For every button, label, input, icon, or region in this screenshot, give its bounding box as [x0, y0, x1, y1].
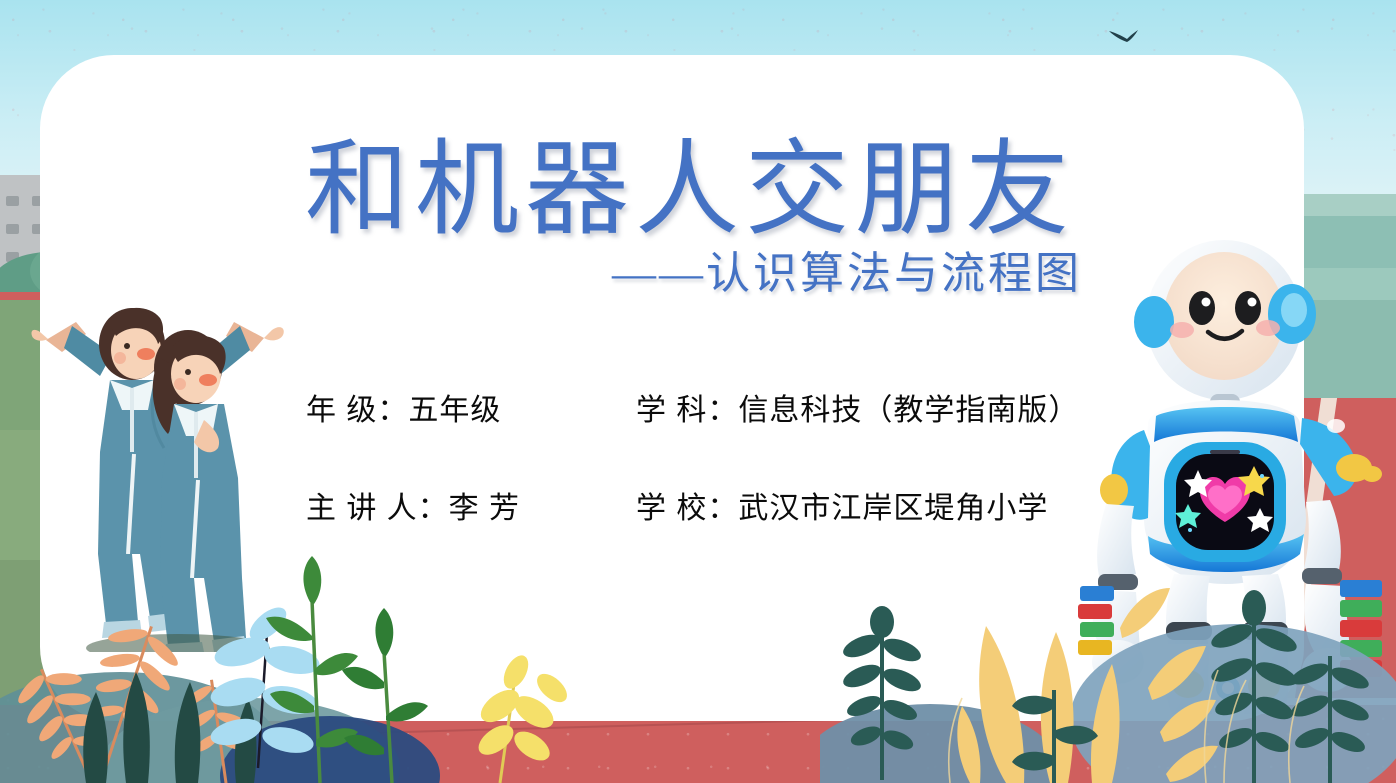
- page-subtitle: ——认识算法与流程图: [290, 250, 1090, 298]
- building-window: [6, 196, 19, 206]
- info-row: 主 讲 人： 李 芳 学 校： 武汉市江岸区堤角小学: [306, 483, 1106, 527]
- title-block: 和机器人交朋友 ——认识算法与流程图: [290, 136, 1090, 299]
- grade-value: 五年级: [408, 385, 501, 429]
- school-label: 学 校：: [636, 483, 738, 527]
- robot-ear-left: [1134, 296, 1174, 348]
- subject-value: 信息科技（教学指南版）: [738, 385, 1079, 429]
- presenter-label: 主 讲 人：: [306, 483, 449, 527]
- school-value: 武汉市江岸区堤角小学: [738, 483, 1048, 527]
- robot-eye-left: [1189, 291, 1215, 325]
- presentation-slide: 和机器人交朋友 ——认识算法与流程图 年 级： 五年级 学 科： 信息科技（教学…: [0, 0, 1396, 783]
- presenter-value: 李 芳: [449, 483, 520, 527]
- robot-head: [1134, 240, 1316, 414]
- bottom-right-foliage: [820, 560, 1396, 783]
- grade-label: 年 级：: [306, 385, 408, 429]
- info-cell-school: 学 校： 武汉市江岸区堤角小学: [636, 483, 1048, 527]
- info-cell-subject: 学 科： 信息科技（教学指南版）: [636, 385, 1079, 429]
- yellow-leaves: [473, 651, 572, 783]
- info-row: 年 级： 五年级 学 科： 信息科技（教学指南版）: [306, 385, 1106, 429]
- robot-eye-right: [1235, 291, 1261, 325]
- info-cell-presenter: 主 讲 人： 李 芳: [306, 483, 636, 527]
- subject-label: 学 科：: [636, 385, 738, 429]
- building-window: [6, 224, 19, 234]
- bird-icon: [1108, 26, 1142, 46]
- page-title: 和机器人交朋友: [290, 136, 1090, 246]
- info-cell-grade: 年 级： 五年级: [306, 385, 636, 429]
